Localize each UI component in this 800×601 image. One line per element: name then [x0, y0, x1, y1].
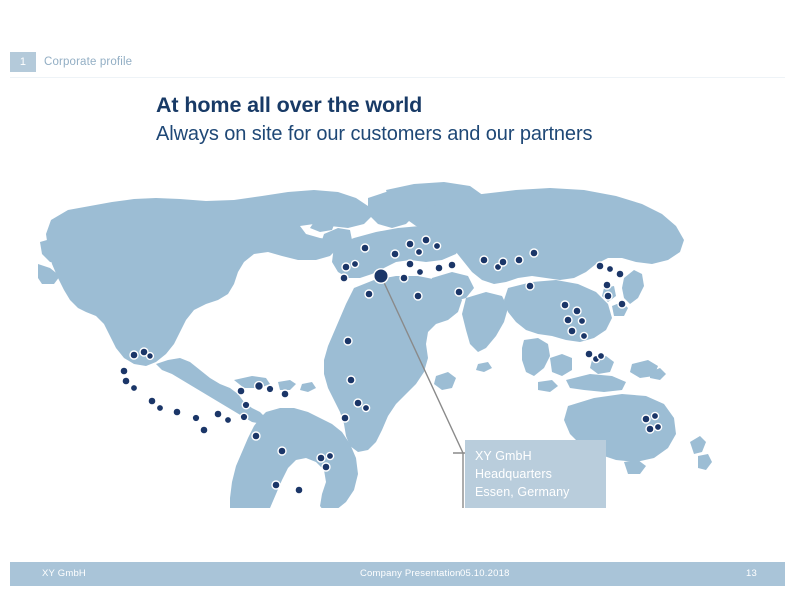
slide-canvas: 1 Corporate profile At home all over the… [0, 0, 800, 601]
map-landmasses [38, 182, 712, 508]
page-title: At home all over the world [156, 92, 776, 119]
title-block: At home all over the world Always on sit… [156, 92, 776, 148]
headquarters-callout-text: XY GmbH Headquarters Essen, Germany [475, 447, 570, 501]
footer-page-number: 13 [746, 562, 757, 586]
page-subtitle: Always on site for our customers and our… [156, 121, 776, 148]
chapter-label: Corporate profile [44, 52, 132, 72]
headquarters-callout: XY GmbH Headquarters Essen, Germany [465, 440, 606, 508]
footer-company-name: XY GmbH [42, 562, 86, 586]
footer-date: 05.10.2018 [460, 562, 510, 586]
world-map [38, 168, 718, 508]
slide-header: 1 Corporate profile [0, 52, 800, 78]
footer-presentation-title: Company Presentation [360, 562, 461, 586]
chapter-number-badge: 1 [10, 52, 36, 72]
world-map-svg [38, 168, 718, 508]
header-divider [10, 77, 785, 78]
slide-footer: XY GmbH Company Presentation 05.10.2018 … [10, 562, 785, 586]
